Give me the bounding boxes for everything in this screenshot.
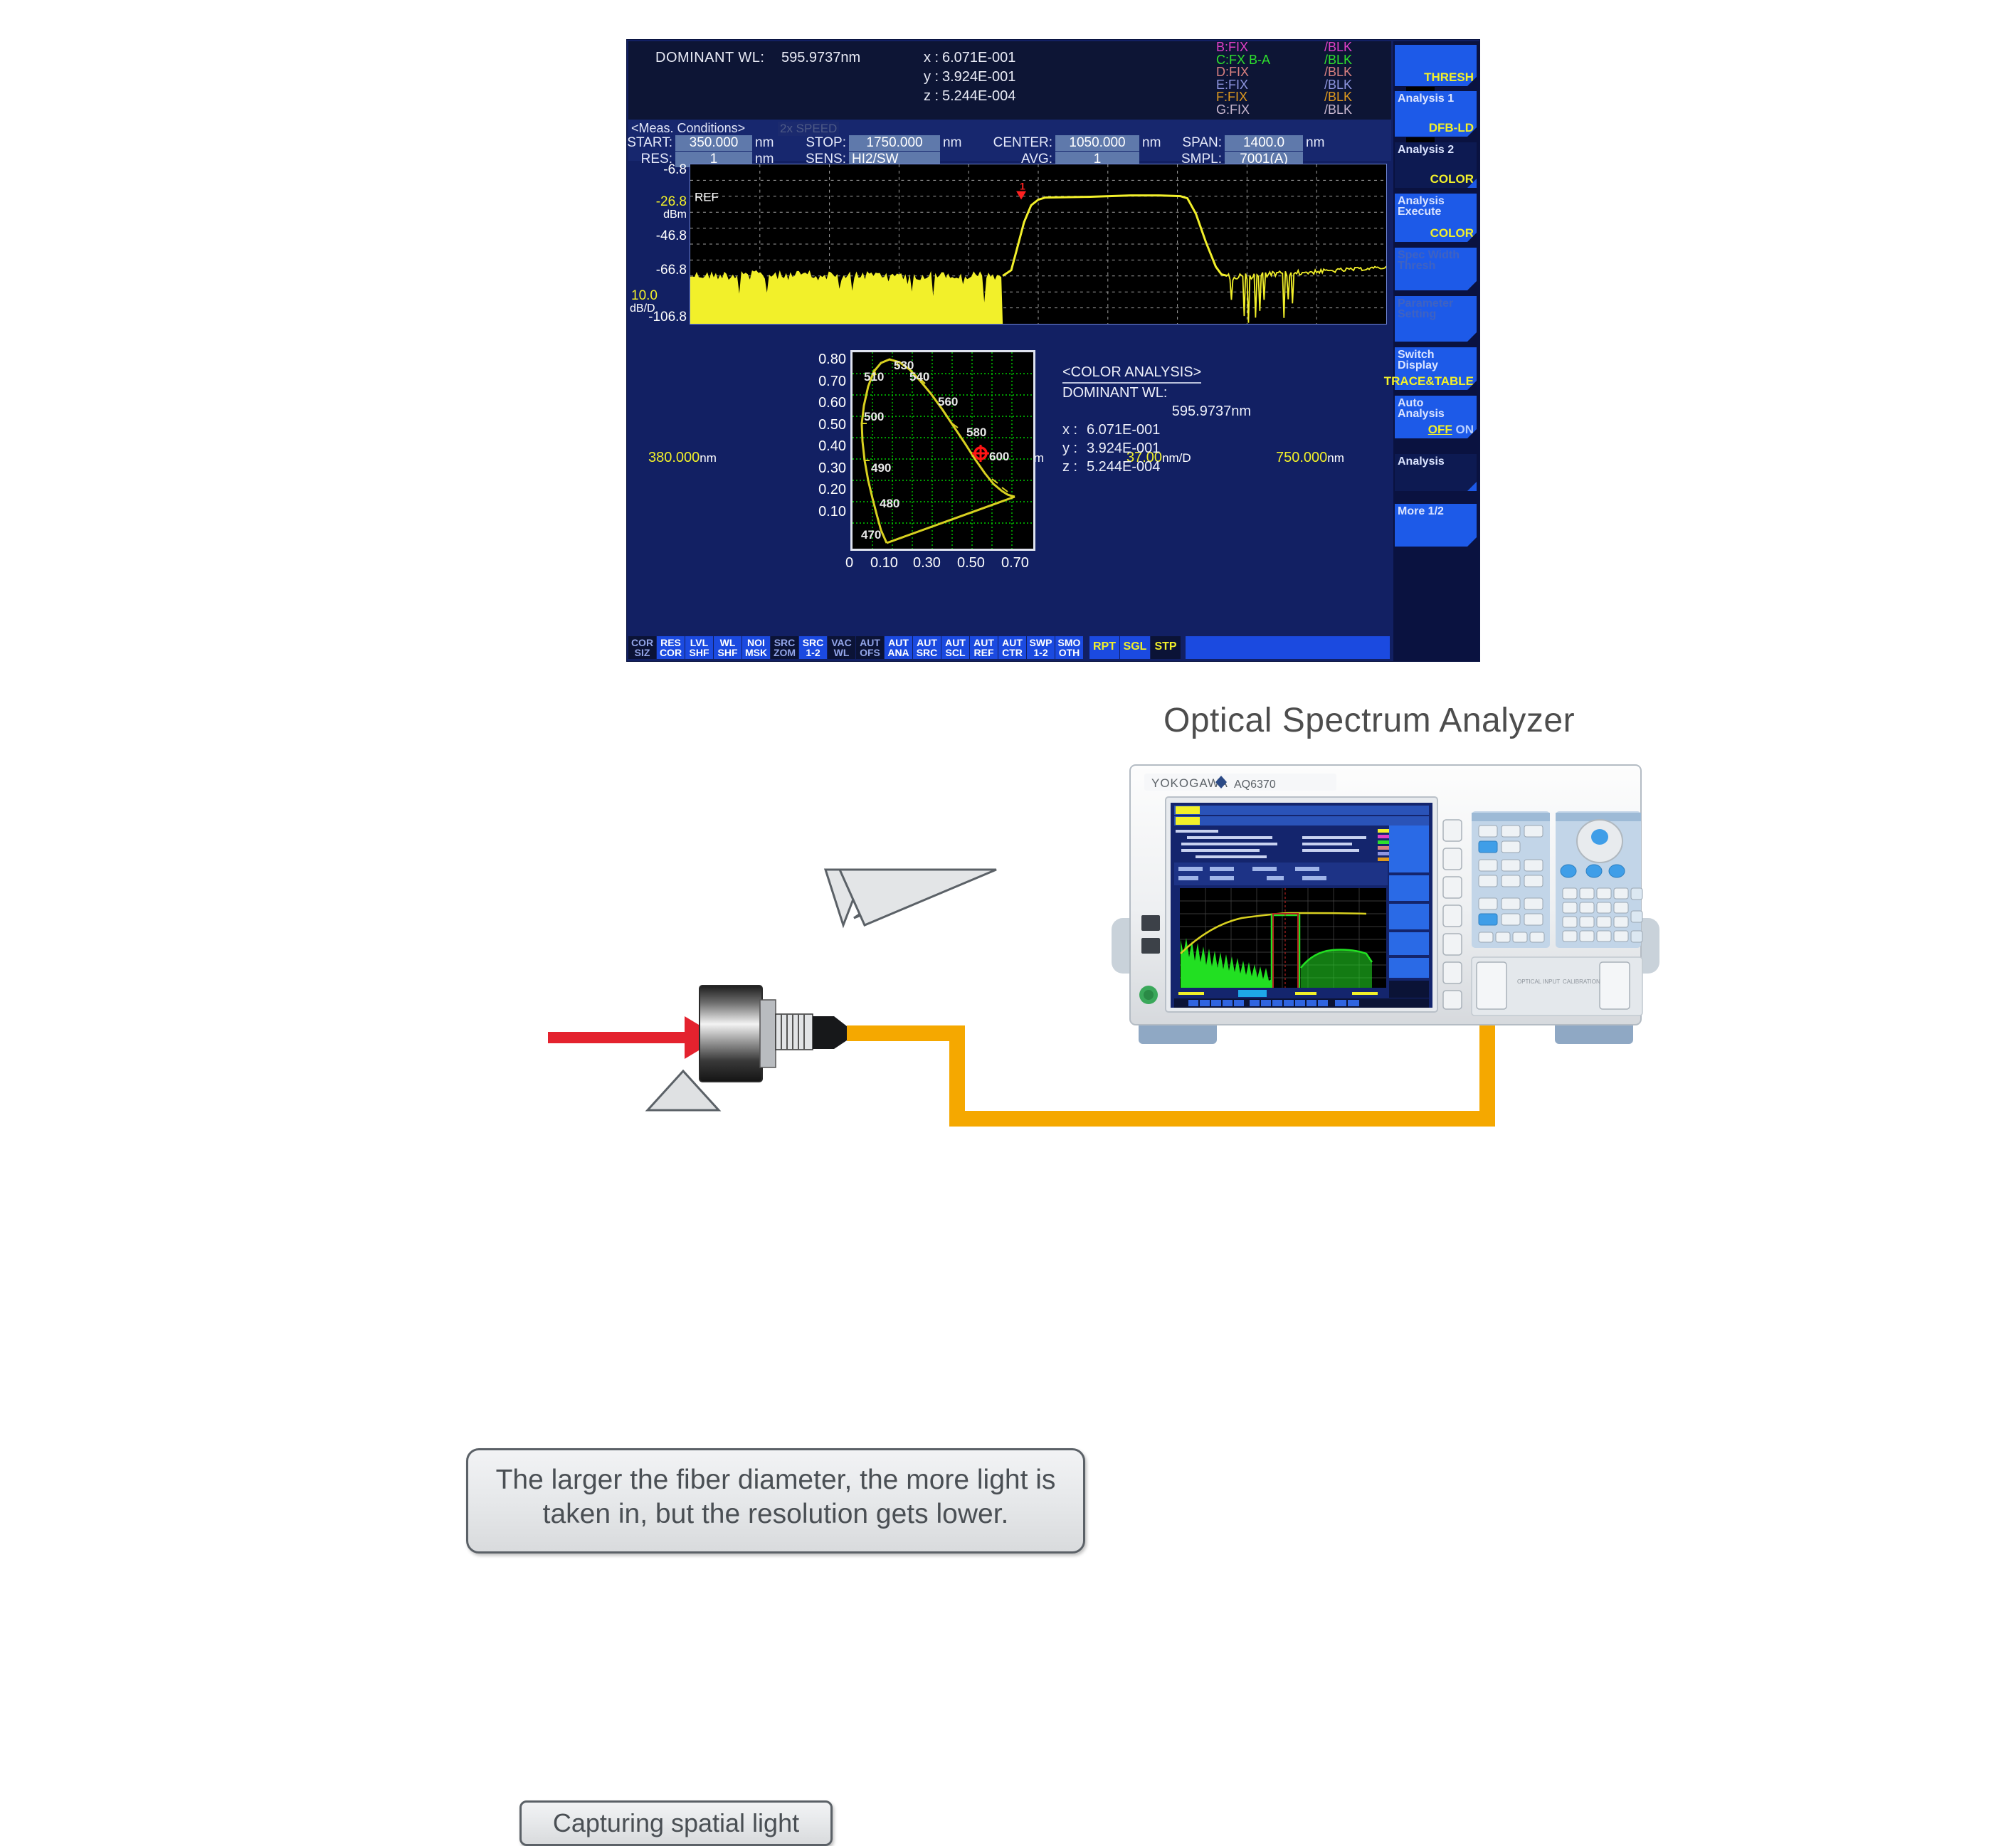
status-cell[interactable]: RESCOR	[657, 636, 685, 659]
status-line2: COR	[657, 648, 685, 658]
softkey-6[interactable]: ParameterSetting	[1395, 296, 1477, 342]
status-line2: SHF	[685, 648, 713, 658]
status-line1: STP	[1151, 642, 1181, 652]
chromaticity-ytick: 0.70	[796, 374, 846, 390]
status-line2: SIZ	[628, 648, 656, 658]
chromaticity-xtick: 0.70	[1001, 555, 1029, 571]
softkey-title: AnalysisExecute	[1398, 196, 1445, 217]
trace-list: B:FIX/BLKC:FX B-A/BLKD:FIX/BLKE:FIX/BLKF…	[1212, 41, 1391, 120]
status-cell[interactable]: VACWL	[828, 636, 855, 659]
status-line2: ZOM	[771, 648, 798, 658]
status-cell[interactable]: WLSHF	[714, 636, 742, 659]
status-line1: SMO	[1055, 638, 1083, 648]
spectrum-graph: -6.8 -26.8 dBm -46.8 -66.8 10.0 dB/D -10…	[628, 162, 1391, 326]
speed-badge: 2x SPEED	[778, 122, 839, 136]
status-line2: SCL	[941, 648, 969, 658]
chromaticity-ytick: 0.30	[796, 460, 846, 477]
x-value: 6.071E-001	[942, 48, 1015, 68]
status-line2: 1-2	[799, 648, 827, 658]
svg-text:OPTICAL INPUT: OPTICAL INPUT	[1517, 979, 1560, 985]
softkey-corner	[1467, 482, 1477, 491]
svg-text:560: 560	[938, 395, 958, 408]
softkey-corner	[1467, 77, 1477, 86]
softkey-value: THRESH	[1424, 70, 1474, 85]
svg-text:490: 490	[871, 461, 891, 475]
softkey-title: Spec WidthThresh	[1398, 250, 1460, 271]
field-unit: nm	[755, 135, 774, 151]
field-label: START:	[627, 135, 672, 151]
softkey-corner	[1467, 179, 1477, 188]
status-line1: AUT	[885, 638, 912, 648]
softkey-value: TRACE&TABLE	[1384, 374, 1474, 389]
collimator-lens-icon	[700, 986, 847, 1082]
noise-floor-left	[690, 270, 1003, 324]
status-cell[interactable]: CORSIZ	[628, 636, 656, 659]
softkey-corner	[1467, 537, 1477, 547]
svg-text:REF: REF	[695, 191, 719, 204]
trace-name: F:FIX	[1216, 91, 1247, 104]
spectrum-plot-area: REF 1	[690, 164, 1387, 325]
status-cell[interactable]: AUTOFS	[856, 636, 884, 659]
status-cell[interactable]: SMOOTH	[1055, 636, 1083, 659]
status-cell[interactable]: RPT	[1089, 636, 1119, 659]
x-label: x :	[924, 48, 942, 68]
softkey-1[interactable]: THRESH	[1395, 45, 1477, 86]
status-cell[interactable]: SRCZOM	[771, 636, 798, 659]
status-line1: VAC	[828, 638, 855, 648]
status-bar: CORSIZRESCORLVLSHFWLSHFNOIMSKSRCZOMSRC1-…	[628, 636, 1391, 660]
trace-row: D:FIX/BLK	[1212, 66, 1391, 79]
chromaticity-xtick: 0	[845, 555, 853, 571]
trace-blk: /BLK	[1324, 66, 1352, 79]
softkey-corner	[1467, 127, 1477, 137]
softkey-4[interactable]: AnalysisExecuteCOLOR	[1395, 194, 1477, 242]
ca-x-label: x :	[1062, 421, 1087, 439]
y-value: 3.924E-001	[942, 68, 1015, 87]
softkey-2[interactable]: Analysis 1DFB-LD	[1395, 91, 1477, 137]
chromaticity-xtick: 0.30	[913, 555, 941, 571]
svg-text:540: 540	[909, 370, 929, 384]
bubble-sub-tail	[648, 1071, 719, 1110]
status-line1: SGL	[1120, 642, 1150, 652]
chromaticity-ytick: 0.60	[796, 395, 846, 411]
ca-dominant-label: DOMINANT WL:	[1062, 384, 1251, 402]
status-line1: LVL	[685, 638, 713, 648]
softkey-corner	[1467, 381, 1477, 390]
bubble-tail	[840, 870, 996, 925]
ytick-2: -46.8	[656, 228, 687, 244]
field-unit: nm	[943, 135, 961, 151]
instrument-photo: YOKOGAWA AQ6370	[1112, 765, 1659, 1044]
chromaticity-section: 0.800.700.600.500.400.300.200.10	[628, 347, 1391, 632]
status-line1: AUT	[941, 638, 969, 648]
status-line1: RPT	[1089, 642, 1119, 652]
softkey-title: AutoAnalysis	[1398, 398, 1445, 419]
softkey-corner	[1467, 429, 1477, 438]
softkey-title: Analysis	[1398, 456, 1445, 467]
svg-text:1: 1	[1020, 181, 1025, 192]
dominant-wl-label: DOMINANT WL:	[655, 50, 764, 66]
svg-text:480: 480	[880, 497, 899, 510]
svg-text:580: 580	[966, 426, 986, 439]
softkey-menu[interactable]: THRESHAnalysis 1DFB-LDAnalysis 2COLORAna…	[1393, 41, 1479, 661]
status-filler	[1186, 636, 1390, 659]
status-line2: SHF	[714, 648, 742, 658]
status-line1: AUT	[970, 638, 998, 648]
status-line1: AUT	[998, 638, 1026, 648]
model-label: AQ6370	[1234, 779, 1276, 791]
trace-row: G:FIX/BLK	[1212, 104, 1391, 117]
trace-name: G:FIX	[1216, 104, 1250, 117]
bubble-tail-left	[825, 870, 865, 925]
status-line1: SRC	[771, 638, 798, 648]
status-line2: ANA	[885, 648, 912, 658]
softkey-9[interactable]: Analysis	[1395, 454, 1477, 491]
status-cell[interactable]: AUTCTR	[998, 636, 1026, 659]
color-analysis-header: <COLOR ANALYSIS>	[1062, 363, 1201, 384]
status-line2: OTH	[1055, 648, 1083, 658]
svg-text:600: 600	[989, 450, 1009, 463]
status-cell[interactable]: SWP1-2	[1027, 636, 1055, 659]
status-line2: WL	[828, 648, 855, 658]
chromaticity-xtick: 0.10	[870, 555, 898, 571]
ca-x-value: 6.071E-001	[1087, 422, 1160, 438]
svg-text:500: 500	[864, 410, 884, 423]
status-line1: AUT	[913, 638, 941, 648]
analysis-readout: DOMINANT WL: 595.9737nm x :6.071E-001 y …	[628, 41, 1391, 120]
callout-bubble-main: The larger the fiber diameter, the more …	[466, 1448, 1085, 1554]
status-line1: RES	[657, 638, 685, 648]
status-cell[interactable]: NOIMSK	[742, 636, 770, 659]
status-line2: REF	[970, 648, 998, 658]
softkey-5[interactable]: Spec WidthThresh	[1395, 248, 1477, 290]
softkey-corner	[1467, 332, 1477, 342]
status-line2: MSK	[742, 648, 770, 658]
meas-conditions-title: <Meas. Conditions>	[631, 121, 745, 136]
ca-z-label: z :	[1062, 458, 1087, 476]
softkey-10[interactable]: More 1/2	[1395, 504, 1477, 547]
ytick-0: -6.8	[663, 162, 687, 178]
meas-row-primary: START:350.000nmSTOP:1750.000nmCENTER:105…	[628, 135, 1391, 152]
chromaticity-ytick: 0.40	[796, 438, 846, 455]
fiber-setup-diagram: YOKOGAWA AQ6370	[0, 683, 2016, 1237]
trace-blk: /BLK	[1324, 104, 1352, 117]
softkey-8[interactable]: AutoAnalysisOFF ON	[1395, 396, 1477, 438]
orange-fiber-icon	[847, 975, 1487, 1119]
status-cell[interactable]: AUTANA	[885, 636, 912, 659]
status-line2: CTR	[998, 648, 1026, 658]
softkey-title: ParameterSetting	[1398, 298, 1453, 320]
softkey-3[interactable]: Analysis 2COLOR	[1395, 142, 1477, 188]
spectrum-marker: 1	[1016, 181, 1026, 200]
svg-text:CALIBRATION: CALIBRATION	[1563, 979, 1600, 985]
field-label: SPAN:	[1182, 135, 1222, 151]
trace-row: B:FIX/BLK	[1212, 41, 1391, 54]
color-analysis-readout: <COLOR ANALYSIS> DOMINANT WL: 595.9737nm…	[1062, 363, 1251, 476]
softkey-corner	[1467, 281, 1477, 290]
status-cell[interactable]: SRC1-2	[799, 636, 827, 659]
ca-z-value: 5.244E-004	[1087, 459, 1160, 475]
ca-dominant-value: 595.9737nm	[1062, 402, 1251, 421]
field-value[interactable]: 1750.000	[849, 135, 940, 151]
softkey-title: Analysis 2	[1398, 144, 1454, 155]
softkey-separator	[1406, 137, 1435, 142]
chromaticity-ytick: 0.20	[796, 482, 846, 498]
chromaticity-plot: 470 480 490 500 510 530 540 560 580 600	[850, 350, 1035, 551]
ca-y-value: 3.924E-001	[1087, 441, 1160, 456]
dominant-wl-value: 595.9737nm	[781, 50, 860, 66]
chromaticity-ytick: 0.10	[796, 504, 846, 520]
field-label: STOP:	[806, 135, 846, 151]
status-line1: NOI	[742, 638, 770, 648]
trace-row: F:FIX/BLK	[1212, 91, 1391, 104]
trace-name: D:FIX	[1216, 66, 1249, 79]
softkey-title: SwitchDisplay	[1398, 349, 1438, 371]
status-line2: OFS	[856, 648, 884, 658]
status-cell[interactable]: SGL	[1120, 636, 1150, 659]
brand-label: YOKOGAWA	[1151, 776, 1228, 790]
field-value[interactable]: 350.000	[675, 135, 752, 151]
svg-text:470: 470	[861, 528, 881, 542]
status-cell[interactable]: STP	[1151, 636, 1181, 659]
osa-screenshot-panel: DOMINANT WL: 595.9737nm x :6.071E-001 y …	[626, 39, 1480, 662]
trace-blk: /BLK	[1324, 41, 1352, 54]
softkey-7[interactable]: SwitchDisplayTRACE&TABLE	[1395, 347, 1477, 390]
status-line1: AUT	[856, 638, 884, 648]
scale-per-div: 10.0	[631, 288, 658, 304]
status-line1: WL	[714, 638, 742, 648]
field-value[interactable]: 1050.000	[1055, 135, 1139, 151]
field-label: CENTER:	[993, 135, 1052, 151]
z-value: 5.244E-004	[942, 87, 1015, 106]
chromaticity-xtick: 0.50	[957, 555, 985, 571]
ytick-4: -106.8	[648, 310, 687, 325]
status-cell[interactable]: AUTSRC	[913, 636, 941, 659]
chromaticity-ytick: 0.80	[796, 352, 846, 368]
status-line2: SRC	[913, 648, 941, 658]
z-label: z :	[924, 87, 942, 106]
ca-y-label: y :	[1062, 439, 1087, 458]
field-unit: nm	[1142, 135, 1161, 151]
field-unit: nm	[1306, 135, 1324, 151]
status-cell[interactable]: AUTSCL	[941, 636, 969, 659]
spectrum-y-axis: -6.8 -26.8 dBm -46.8 -66.8 10.0 dB/D -10…	[628, 162, 690, 326]
trace-name: B:FIX	[1216, 41, 1248, 54]
softkey-title: Analysis 1	[1398, 93, 1454, 104]
ytick-3: -66.8	[656, 263, 687, 278]
svg-text:510: 510	[864, 370, 884, 384]
bubble-tail-right	[854, 870, 975, 918]
chromaticity-ytick: 0.50	[796, 417, 846, 433]
softkey-corner	[1467, 233, 1477, 242]
softkey-title: More 1/2	[1398, 506, 1444, 517]
status-line1: COR	[628, 638, 656, 648]
xyz-readout: x :6.071E-001 y :3.924E-001 z :5.244E-00…	[924, 48, 1015, 106]
callout-bubble-sub: Capturing spatial light	[519, 1800, 833, 1846]
ref-unit: dBm	[663, 209, 687, 221]
trace-blk: /BLK	[1324, 91, 1352, 104]
field-value[interactable]: 1400.0	[1225, 135, 1303, 151]
status-cell[interactable]: LVLSHF	[685, 636, 713, 659]
status-line1: SRC	[799, 638, 827, 648]
status-line1: SWP	[1027, 638, 1055, 648]
red-arrow-icon	[548, 1016, 720, 1059]
status-line2: 1-2	[1027, 648, 1055, 658]
ytick-ref: -26.8	[656, 194, 687, 210]
y-label: y :	[924, 68, 942, 87]
status-cell[interactable]: AUTREF	[970, 636, 998, 659]
noise-floor-right	[1227, 266, 1386, 322]
meas-conditions-panel: <Meas. Conditions> 2x SPEED START:350.00…	[628, 120, 1391, 161]
